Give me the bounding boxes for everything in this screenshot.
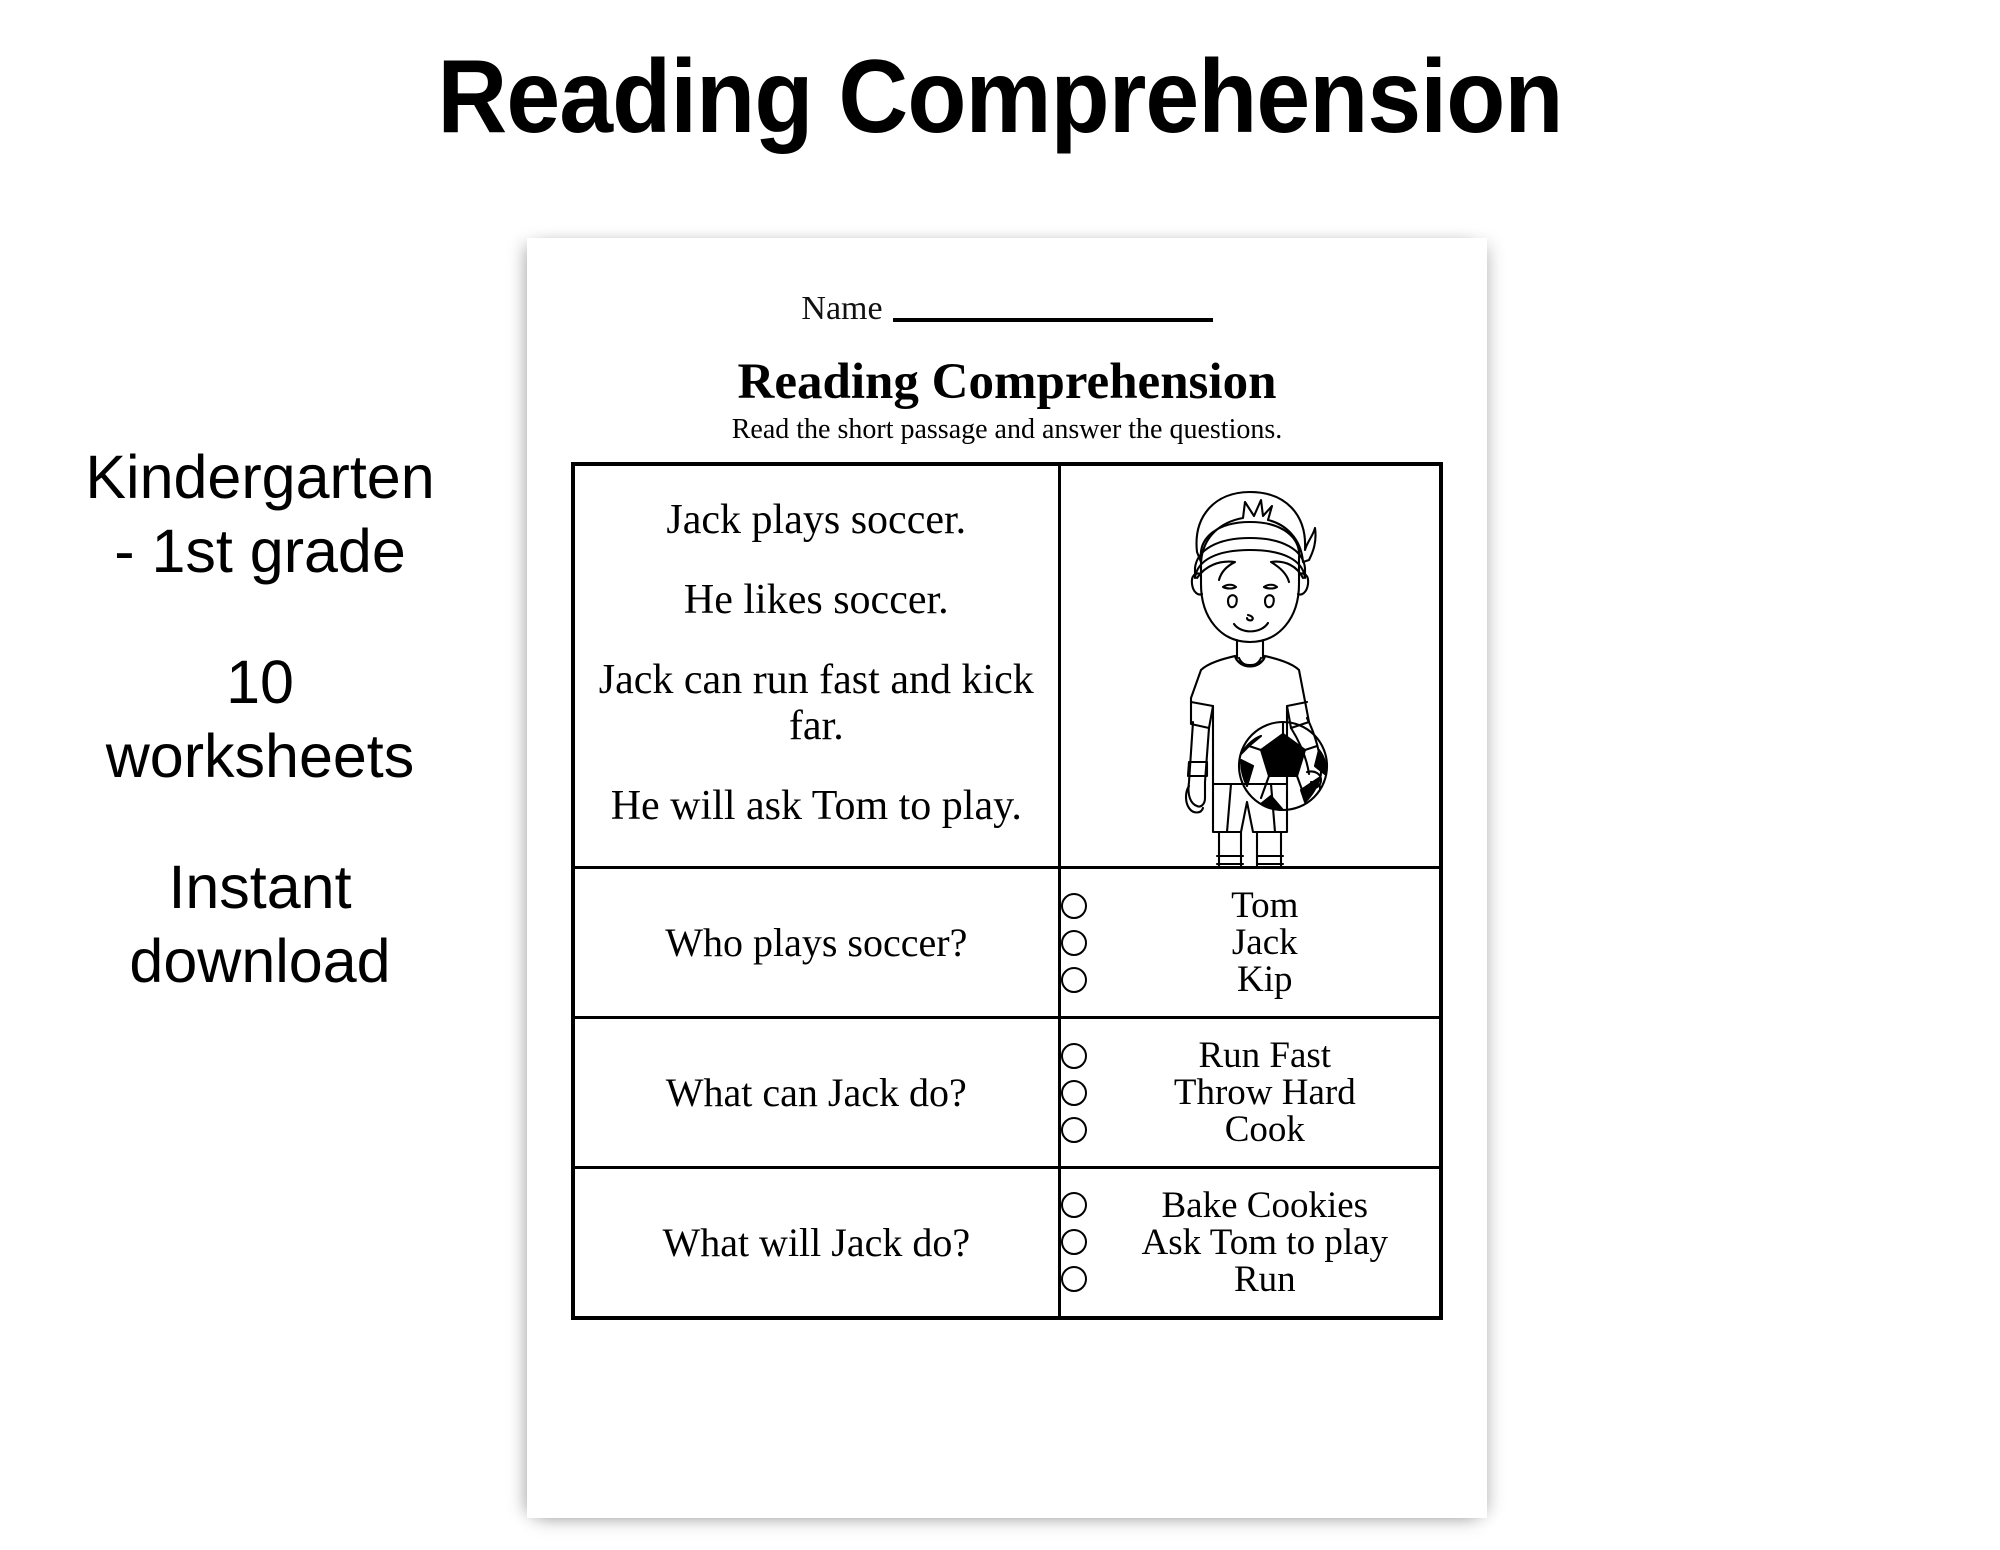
option-row[interactable]: Tom [1061, 887, 1439, 924]
promo-block-delivery: Instant download [0, 850, 520, 999]
option-row[interactable]: Throw Hard [1061, 1074, 1439, 1111]
option-label: Bake Cookies [1087, 1187, 1439, 1224]
option-label: Kip [1087, 961, 1439, 998]
option-row[interactable]: Kip [1061, 961, 1439, 998]
option-row[interactable]: Run Fast [1061, 1037, 1439, 1074]
passage-cell: Jack plays soccer. He likes soccer. Jack… [573, 464, 1059, 868]
passage-line: He will ask Tom to play. [575, 783, 1058, 829]
question-options: Tom Jack Kip [1059, 868, 1441, 1018]
option-row[interactable]: Jack [1061, 924, 1439, 961]
worksheet-subtitle: Read the short passage and answer the qu… [571, 414, 1443, 446]
option-row[interactable]: Cook [1061, 1111, 1439, 1148]
passage-line: Jack plays soccer. [575, 497, 1058, 543]
option-bubble-icon[interactable] [1061, 1117, 1087, 1143]
option-row[interactable]: Ask Tom to play [1061, 1224, 1439, 1261]
question-prompt: What can Jack do? [573, 1018, 1059, 1168]
promo-block-count: 10 worksheets [0, 645, 520, 794]
option-bubble-icon[interactable] [1061, 1229, 1087, 1255]
worksheet-content: Name Reading Comprehension Read the shor… [571, 282, 1443, 1474]
question-row: What can Jack do? Run Fast Throw Hard [573, 1018, 1441, 1168]
question-row: What will Jack do? Bake Cookies Ask Tom … [573, 1168, 1441, 1318]
option-bubble-icon[interactable] [1061, 1192, 1087, 1218]
option-label: Jack [1087, 924, 1439, 961]
question-options: Bake Cookies Ask Tom to play Run [1059, 1168, 1441, 1318]
banner-title: Reading Comprehension [70, 38, 1930, 158]
passage-line: He likes soccer. [575, 577, 1058, 623]
option-bubble-icon[interactable] [1061, 893, 1087, 919]
name-label: Name [801, 292, 892, 326]
promo-text-column: Kindergarten - 1st grade 10 worksheets I… [0, 440, 520, 998]
option-label: Cook [1087, 1111, 1439, 1148]
option-label: Run [1087, 1261, 1439, 1298]
name-field-row: Name [571, 292, 1443, 326]
option-bubble-icon[interactable] [1061, 1080, 1087, 1106]
worksheet-page: Name Reading Comprehension Read the shor… [527, 238, 1487, 1518]
option-bubble-icon[interactable] [1061, 967, 1087, 993]
option-bubble-icon[interactable] [1061, 1043, 1087, 1069]
option-label: Throw Hard [1087, 1074, 1439, 1111]
promo-line: 10 [0, 645, 520, 719]
option-bubble-icon[interactable] [1061, 1266, 1087, 1292]
promo-line: - 1st grade [0, 514, 520, 588]
worksheet-title: Reading Comprehension [571, 354, 1443, 410]
option-row[interactable]: Bake Cookies [1061, 1187, 1439, 1224]
passage-row: Jack plays soccer. He likes soccer. Jack… [573, 464, 1441, 868]
option-row[interactable]: Run [1061, 1261, 1439, 1298]
promo-image-canvas: Reading Comprehension Kindergarten - 1st… [0, 0, 2000, 1550]
illustration-cell [1059, 464, 1441, 868]
option-label: Ask Tom to play [1087, 1224, 1439, 1261]
option-label: Tom [1087, 887, 1439, 924]
name-input-line[interactable] [893, 318, 1213, 322]
question-prompt: What will Jack do? [573, 1168, 1059, 1318]
option-bubble-icon[interactable] [1061, 930, 1087, 956]
worksheet-table: Jack plays soccer. He likes soccer. Jack… [571, 462, 1443, 1320]
promo-line: Kindergarten [0, 440, 520, 514]
question-prompt: Who plays soccer? [573, 868, 1059, 1018]
soccer-boy-line-art-icon [1135, 466, 1365, 866]
question-options: Run Fast Throw Hard Cook [1059, 1018, 1441, 1168]
promo-block-grade: Kindergarten - 1st grade [0, 440, 520, 589]
option-label: Run Fast [1087, 1037, 1439, 1074]
promo-line: Instant [0, 850, 520, 924]
question-row: Who plays soccer? Tom Jack [573, 868, 1441, 1018]
passage-line: Jack can run fast and kick far. [575, 657, 1058, 749]
promo-line: download [0, 924, 520, 998]
promo-line: worksheets [0, 719, 520, 793]
